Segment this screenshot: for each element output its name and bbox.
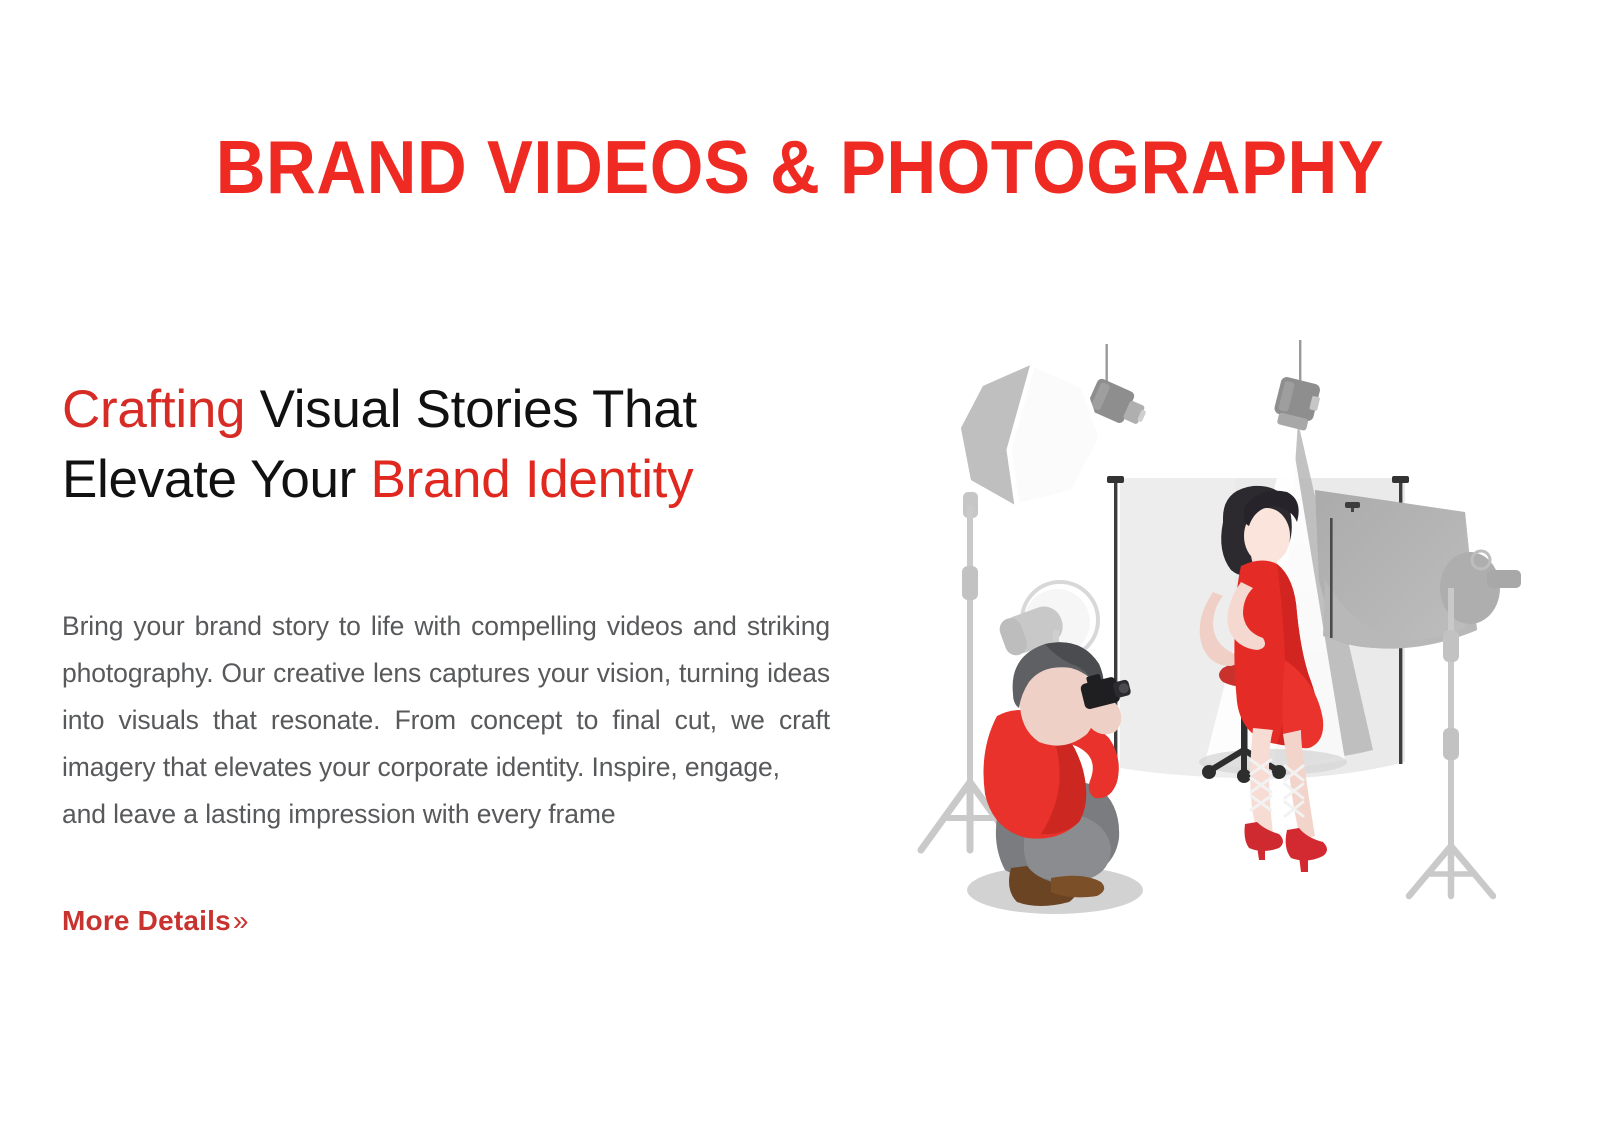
hero-headline: Crafting Visual Stories That Elevate You… (62, 375, 832, 515)
more-details-label: More Details (62, 905, 231, 936)
headline-line-1: Crafting Visual Stories That (62, 375, 832, 445)
headline-line-1-rest: Visual Stories That (245, 380, 697, 439)
hero-content-column: Crafting Visual Stories That Elevate You… (62, 375, 832, 938)
headline-accent-brand-identity: Brand Identity (370, 450, 693, 509)
page-title: BRAND VIDEOS & PHOTOGRAPHY (64, 124, 1536, 210)
page-root: BRAND VIDEOS & PHOTOGRAPHY Crafting Visu… (0, 0, 1600, 1125)
hero-paragraph-main: Bring your brand story to life with comp… (62, 611, 830, 782)
headline-line-2: Elevate Your Brand Identity (62, 445, 832, 515)
more-details-link[interactable]: More Details» (62, 904, 249, 938)
studio-illustration-svg (905, 330, 1525, 940)
octagon-softbox-left (961, 364, 1101, 518)
hanging-spotlight-right (1271, 340, 1323, 432)
double-chevron-right-icon: » (231, 905, 249, 936)
photographer-with-camera (967, 642, 1143, 914)
large-reflector-right (1315, 490, 1521, 649)
hero-paragraph-last-line: and leave a lasting impression with ever… (62, 791, 830, 838)
headline-line-2-rest: Elevate Your (62, 450, 370, 509)
headline-accent-crafting: Crafting (62, 380, 245, 439)
hero-paragraph: Bring your brand story to life with comp… (62, 515, 830, 838)
backdrop-rod-right (1330, 518, 1333, 638)
studio-illustration (905, 330, 1525, 940)
